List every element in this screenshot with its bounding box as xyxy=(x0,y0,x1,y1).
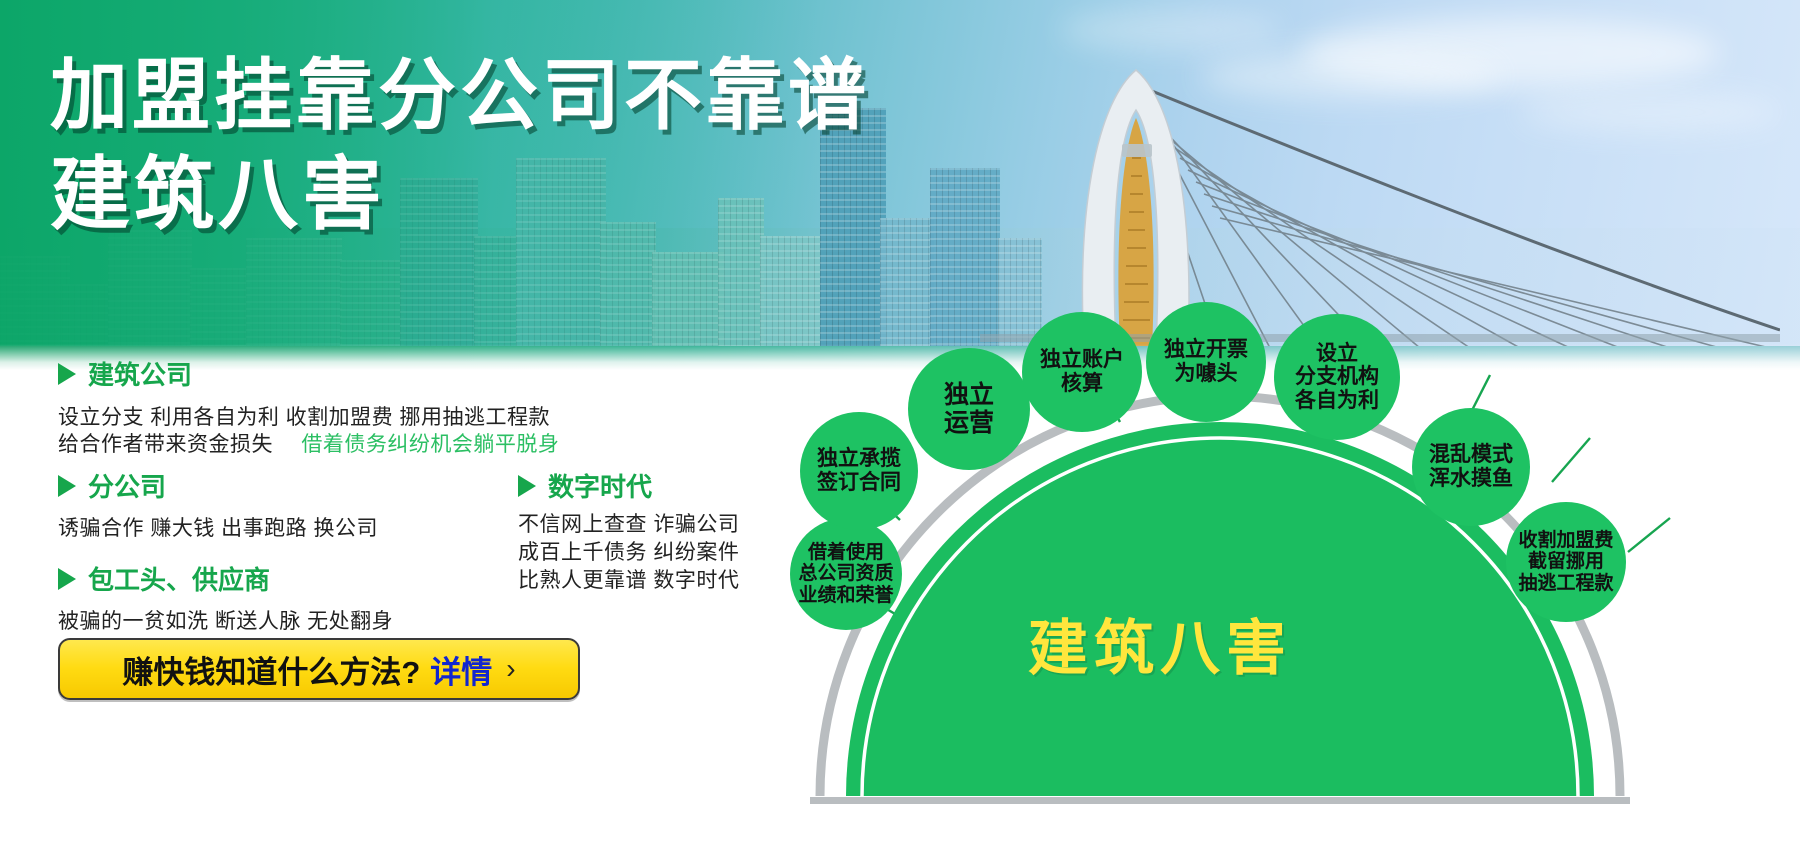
cloud-shape xyxy=(1060,10,1280,50)
section-heading-contractor-supplier: 包工头、供应商 xyxy=(58,560,270,597)
section-heading-label: 包工头、供应商 xyxy=(88,560,270,597)
triangle-bullet-icon xyxy=(58,363,76,385)
headline-line-1: 加盟挂靠分公司不靠谱 xyxy=(50,56,870,136)
triangle-bullet-icon xyxy=(58,475,76,497)
body-text: 诱骗合作 赚大钱 出事跑路 换公司 xyxy=(58,517,378,540)
bubble-independent-invoicing[interactable]: 独立开票 为噱头 xyxy=(1146,302,1266,422)
section-heading-digital-era: 数字时代 xyxy=(518,467,652,504)
section-body-line: 设立分支 利用各自为利 收割加盟费 挪用抽逃工程款 xyxy=(58,401,550,431)
bubble-line: 截留挪用 xyxy=(1528,551,1604,572)
bubble-line: 独立开票 xyxy=(1164,338,1248,361)
building-silhouette xyxy=(880,218,934,348)
eight-harms-diagram: 建筑八害 借着使用 总公司资质 业绩和荣誉 独立承揽 签订合同 独立 运营 独立… xyxy=(790,330,1800,844)
body-text: 设立分支 利用各自为利 收割加盟费 挪用抽逃工程款 xyxy=(58,406,550,429)
body-text: 给合作者带来资金损失 xyxy=(58,433,273,456)
cta-link-label[interactable]: 详情 xyxy=(430,647,492,692)
bubble-line: 分支机构 xyxy=(1295,365,1379,388)
bubble-line: 各自为利 xyxy=(1295,389,1379,412)
body-text: 成百上千债务 纠纷案件 xyxy=(518,541,739,564)
section-heading-label: 分公司 xyxy=(88,467,166,504)
bubble-line: 独立账户 xyxy=(1040,348,1124,371)
section-heading-label: 建筑公司 xyxy=(88,355,192,392)
body-text-accent: 借着债务纠纷机会躺平脱身 xyxy=(301,433,559,456)
bubble-independent-account[interactable]: 独立账户 核算 xyxy=(1022,312,1142,432)
poster-root: 加盟挂靠分公司不靠谱 建筑八害 建筑公司 设立分支 利用各自为利 收割加盟费 挪… xyxy=(0,0,1800,844)
bubble-line: 业绩和荣誉 xyxy=(798,585,893,606)
bubble-set-up-branches[interactable]: 设立 分支机构 各自为利 xyxy=(1274,314,1400,440)
left-content-column: 建筑公司 设立分支 利用各自为利 收割加盟费 挪用抽逃工程款 给合作者带来资金损… xyxy=(0,370,790,844)
bubble-harvest-franchise-fee[interactable]: 收割加盟费 截留挪用 抽逃工程款 xyxy=(1506,502,1626,622)
bubble-chaotic-model[interactable]: 混乱模式 浑水摸鱼 xyxy=(1412,408,1530,526)
triangle-bullet-icon xyxy=(518,475,536,497)
chevron-right-icon: › xyxy=(506,653,515,685)
bridge-illustration xyxy=(980,48,1780,348)
bubble-independent-operation[interactable]: 独立 运营 xyxy=(908,348,1030,470)
body-text: 被骗的一贫如洗 断送人脉 无处翻身 xyxy=(58,610,393,633)
bubble-line: 混乱模式 xyxy=(1429,443,1513,466)
hero-banner: 加盟挂靠分公司不靠谱 建筑八害 xyxy=(0,0,1800,370)
section-heading-label: 数字时代 xyxy=(548,467,652,504)
body-text: 比熟人更靠谱 数字时代 xyxy=(518,569,739,592)
bubble-independent-contracting[interactable]: 独立承揽 签订合同 xyxy=(800,412,918,530)
banner-headline: 加盟挂靠分公司不靠谱 建筑八害 xyxy=(50,56,870,235)
cta-button[interactable]: 赚快钱知道什么方法? 详情 › xyxy=(58,638,580,700)
body-text: 不信网上查查 诈骗公司 xyxy=(518,513,739,536)
bubble-borrow-qualification[interactable]: 借着使用 总公司资质 业绩和荣誉 xyxy=(790,518,902,630)
bubble-line: 设立 xyxy=(1316,342,1358,365)
bubble-line: 总公司资质 xyxy=(798,563,893,584)
section-body-line: 诱骗合作 赚大钱 出事跑路 换公司 xyxy=(58,512,378,542)
bubble-line: 抽逃工程款 xyxy=(1518,573,1613,594)
section-body-line: 不信网上查查 诈骗公司 xyxy=(518,508,739,538)
triangle-bullet-icon xyxy=(58,568,76,590)
bubble-line: 为噱头 xyxy=(1175,362,1238,385)
section-body-line: 成百上千债务 纠纷案件 xyxy=(518,536,739,566)
section-body-line: 比熟人更靠谱 数字时代 xyxy=(518,564,739,594)
section-body-line: 给合作者带来资金损失 借着债务纠纷机会躺平脱身 xyxy=(58,428,559,458)
section-heading-construction-company: 建筑公司 xyxy=(58,355,192,392)
headline-line-2: 建筑八害 xyxy=(50,154,870,236)
cta-label: 赚快钱知道什么方法? xyxy=(122,647,420,692)
bubble-line: 借着使用 xyxy=(808,542,884,563)
section-heading-branch-company: 分公司 xyxy=(58,467,166,504)
section-body-line: 被骗的一贫如洗 断送人脉 无处翻身 xyxy=(58,605,393,635)
dome-label: 建筑八害 xyxy=(1028,600,1292,687)
bubble-line: 收割加盟费 xyxy=(1518,530,1613,551)
bubble-line: 运营 xyxy=(944,409,994,437)
bubble-line: 核算 xyxy=(1061,372,1103,395)
bubble-line: 浑水摸鱼 xyxy=(1429,467,1513,490)
bubble-line: 独立 xyxy=(944,381,994,409)
bubble-line: 独立承揽 xyxy=(817,447,901,470)
bubble-line: 签订合同 xyxy=(817,471,901,494)
